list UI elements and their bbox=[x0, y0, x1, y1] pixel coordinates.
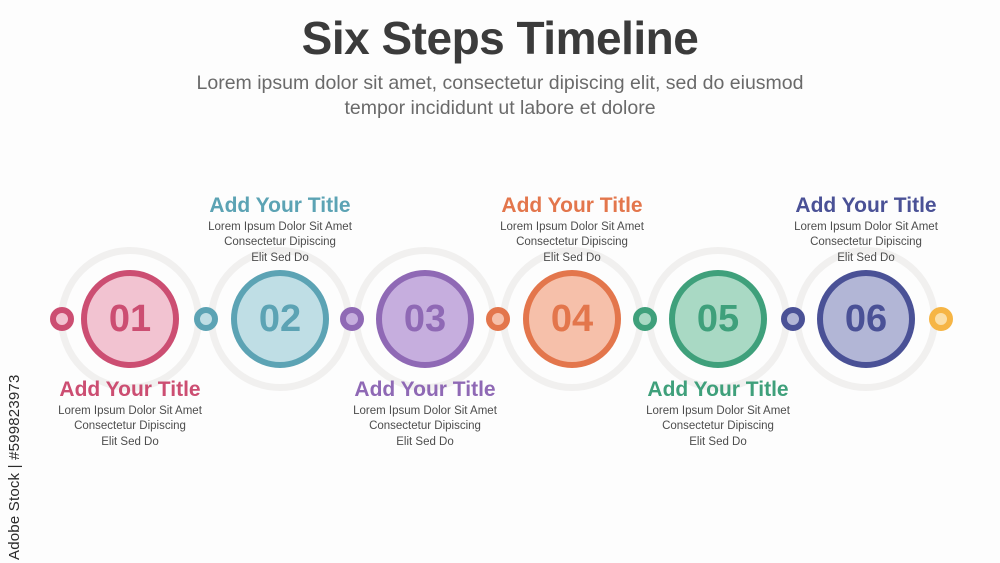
step-description-06: Lorem Ipsum Dolor Sit AmetConsectetur Di… bbox=[751, 220, 981, 266]
step-circle-05[interactable]: 05 bbox=[669, 270, 767, 368]
step-description-01: Lorem Ipsum Dolor Sit AmetConsectetur Di… bbox=[15, 404, 245, 450]
step-number-02: 02 bbox=[259, 300, 301, 338]
step-text-block-05: Add Your TitleLorem Ipsum Dolor Sit Amet… bbox=[603, 378, 833, 450]
step-description-line-3: Elit Sed Do bbox=[15, 435, 245, 450]
step-description-line-2: Consectetur Dipiscing bbox=[751, 235, 981, 250]
step-description-line-2: Consectetur Dipiscing bbox=[603, 419, 833, 434]
step-circle-01[interactable]: 01 bbox=[81, 270, 179, 368]
dot-03-04-orange[interactable] bbox=[486, 307, 510, 331]
step-description-line-1: Lorem Ipsum Dolor Sit Amet bbox=[310, 404, 540, 419]
step-description-line-3: Elit Sed Do bbox=[603, 435, 833, 450]
step-description-line-2: Consectetur Dipiscing bbox=[310, 419, 540, 434]
step-circle-02[interactable]: 02 bbox=[231, 270, 329, 368]
step-description-04: Lorem Ipsum Dolor Sit AmetConsectetur Di… bbox=[457, 220, 687, 266]
step-description-line-3: Elit Sed Do bbox=[457, 251, 687, 266]
step-number-03: 03 bbox=[404, 300, 446, 338]
step-description-line-3: Elit Sed Do bbox=[751, 251, 981, 266]
step-description-line-1: Lorem Ipsum Dolor Sit Amet bbox=[751, 220, 981, 235]
dot-04-05-green[interactable] bbox=[633, 307, 657, 331]
step-text-block-03: Add Your TitleLorem Ipsum Dolor Sit Amet… bbox=[310, 378, 540, 450]
infographic-canvas: Six Steps Timeline Lorem ipsum dolor sit… bbox=[0, 0, 1000, 563]
step-title-02: Add Your Title bbox=[165, 194, 395, 217]
dot-trail-yellow[interactable] bbox=[929, 307, 953, 331]
step-description-line-1: Lorem Ipsum Dolor Sit Amet bbox=[15, 404, 245, 419]
step-title-04: Add Your Title bbox=[457, 194, 687, 217]
step-description-line-1: Lorem Ipsum Dolor Sit Amet bbox=[165, 220, 395, 235]
step-text-block-04: Add Your TitleLorem Ipsum Dolor Sit Amet… bbox=[457, 194, 687, 266]
step-number-05: 05 bbox=[697, 300, 739, 338]
step-circle-04[interactable]: 04 bbox=[523, 270, 621, 368]
step-text-block-02: Add Your TitleLorem Ipsum Dolor Sit Amet… bbox=[165, 194, 395, 266]
step-description-line-2: Consectetur Dipiscing bbox=[457, 235, 687, 250]
step-title-05: Add Your Title bbox=[603, 378, 833, 401]
step-description-03: Lorem Ipsum Dolor Sit AmetConsectetur Di… bbox=[310, 404, 540, 450]
step-text-block-01: Add Your TitleLorem Ipsum Dolor Sit Amet… bbox=[15, 378, 245, 450]
dot-01-02-teal[interactable] bbox=[194, 307, 218, 331]
step-description-02: Lorem Ipsum Dolor Sit AmetConsectetur Di… bbox=[165, 220, 395, 266]
step-title-01: Add Your Title bbox=[15, 378, 245, 401]
step-title-03: Add Your Title bbox=[310, 378, 540, 401]
step-title-06: Add Your Title bbox=[751, 194, 981, 217]
step-description-line-2: Consectetur Dipiscing bbox=[165, 235, 395, 250]
step-description-line-2: Consectetur Dipiscing bbox=[15, 419, 245, 434]
step-description-line-1: Lorem Ipsum Dolor Sit Amet bbox=[457, 220, 687, 235]
step-description-line-3: Elit Sed Do bbox=[310, 435, 540, 450]
step-description-line-3: Elit Sed Do bbox=[165, 251, 395, 266]
dot-05-06-navy[interactable] bbox=[781, 307, 805, 331]
step-circle-06[interactable]: 06 bbox=[817, 270, 915, 368]
dot-02-03-purple[interactable] bbox=[340, 307, 364, 331]
step-number-01: 01 bbox=[109, 300, 151, 338]
timeline-graphic: 010203040506 bbox=[0, 0, 1000, 563]
step-number-06: 06 bbox=[845, 300, 887, 338]
step-number-04: 04 bbox=[551, 300, 593, 338]
step-description-line-1: Lorem Ipsum Dolor Sit Amet bbox=[603, 404, 833, 419]
step-description-05: Lorem Ipsum Dolor Sit AmetConsectetur Di… bbox=[603, 404, 833, 450]
step-circle-03[interactable]: 03 bbox=[376, 270, 474, 368]
dot-lead-pink[interactable] bbox=[50, 307, 74, 331]
step-text-block-06: Add Your TitleLorem Ipsum Dolor Sit Amet… bbox=[751, 194, 981, 266]
